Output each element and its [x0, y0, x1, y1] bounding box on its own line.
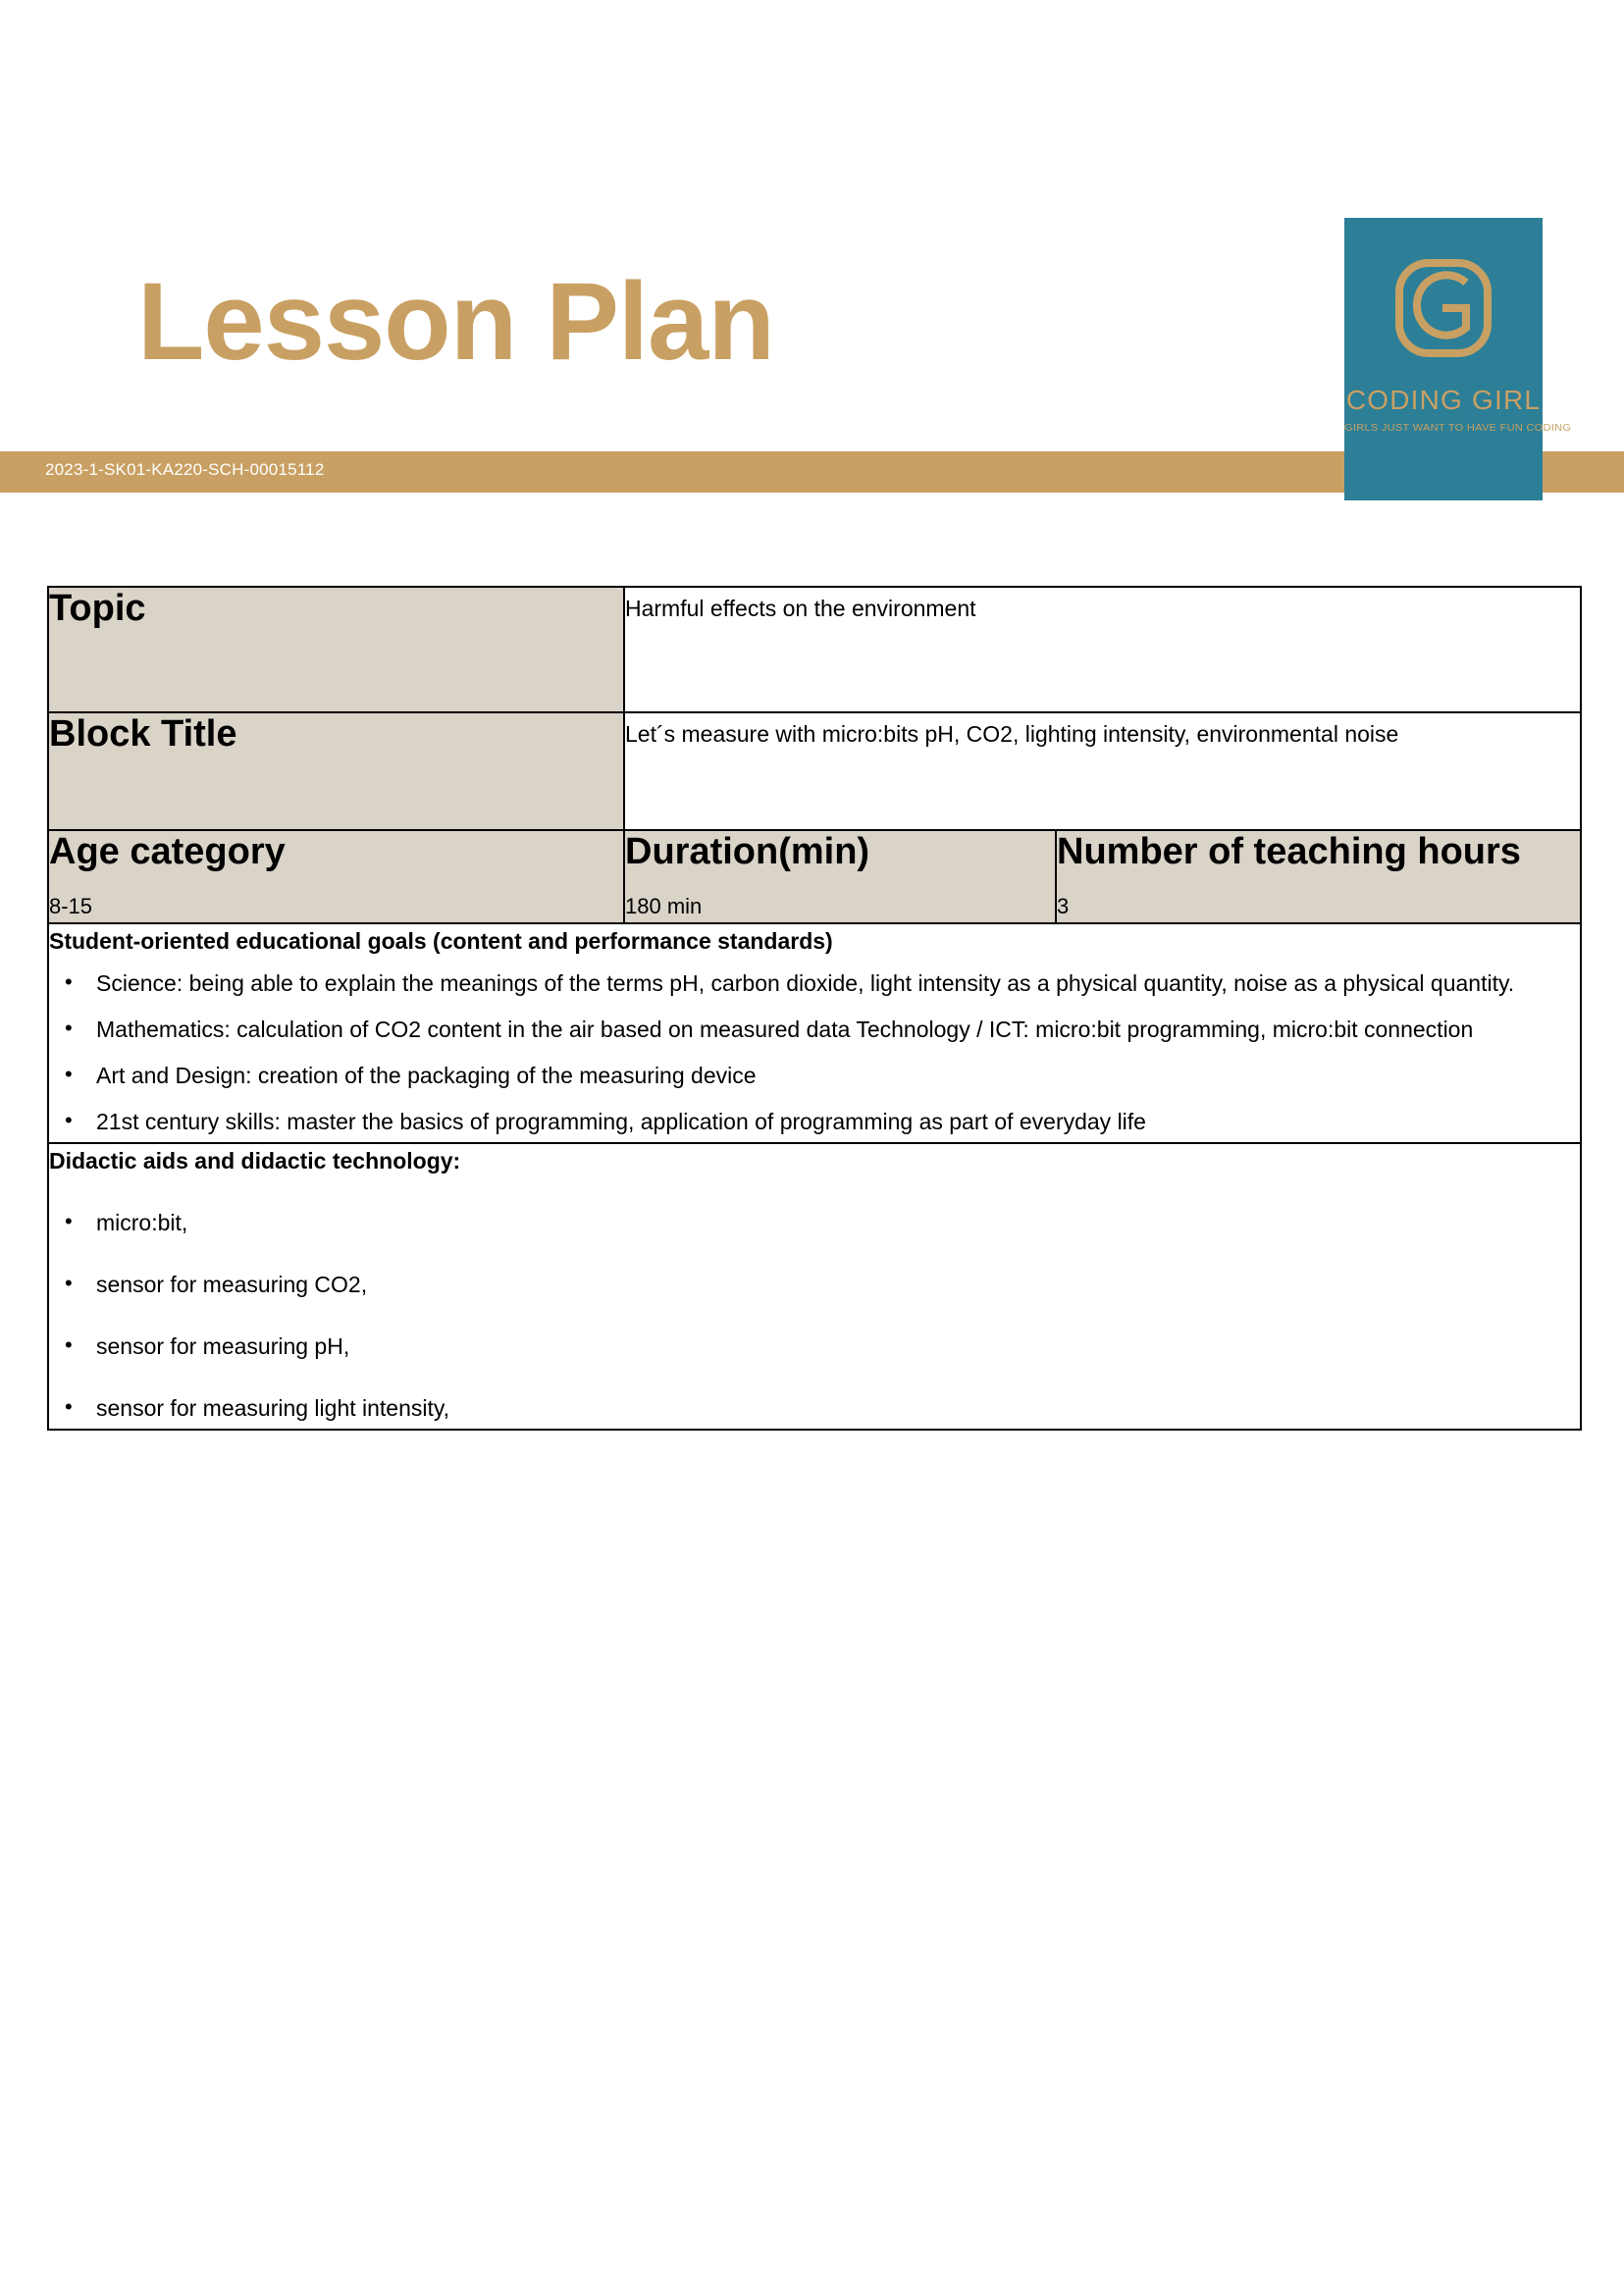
- block-title-label: Block Title: [49, 713, 623, 757]
- lesson-plan-table: Topic Harmful effects on the environment…: [47, 586, 1582, 1431]
- duration-label: Duration(min): [625, 831, 1055, 874]
- table-row-block-title: Block Title Let´s measure with micro:bit…: [48, 712, 1581, 830]
- goals-list: Science: being able to explain the meani…: [49, 964, 1580, 1142]
- teaching-hours-label: Number of teaching hours: [1057, 831, 1580, 874]
- block-title-value: Let´s measure with micro:bits pH, CO2, l…: [625, 713, 1580, 756]
- didactic-cell: Didactic aids and didactic technology: m…: [48, 1143, 1581, 1430]
- topic-value-cell: Harmful effects on the environment: [624, 587, 1581, 712]
- list-item: sensor for measuring light intensity,: [49, 1388, 1580, 1429]
- list-item: sensor for measuring pH,: [49, 1327, 1580, 1367]
- cg-monogram-icon: [1382, 243, 1505, 367]
- table-row-didactic: Didactic aids and didactic technology: m…: [48, 1143, 1581, 1430]
- list-item: sensor for measuring CO2,: [49, 1265, 1580, 1305]
- block-title-value-cell: Let´s measure with micro:bits pH, CO2, l…: [624, 712, 1581, 830]
- age-category-value: 8-15: [49, 890, 623, 922]
- list-item: Art and Design: creation of the packagin…: [49, 1056, 1580, 1096]
- list-item: Science: being able to explain the meani…: [49, 964, 1580, 1004]
- block-title-label-cell: Block Title: [48, 712, 624, 830]
- duration-value: 180 min: [625, 890, 1055, 922]
- age-category-cell: Age category 8-15: [48, 830, 624, 923]
- topic-label-cell: Topic: [48, 587, 624, 712]
- teaching-hours-value: 3: [1057, 890, 1580, 922]
- goals-cell: Student-oriented educational goals (cont…: [48, 923, 1581, 1143]
- didactic-title: Didactic aids and didactic technology:: [49, 1144, 1580, 1178]
- goals-title: Student-oriented educational goals (cont…: [49, 924, 1580, 959]
- project-code: 2023-1-SK01-KA220-SCH-00015112: [45, 460, 324, 480]
- table-row-topic: Topic Harmful effects on the environment: [48, 587, 1581, 712]
- list-item: Mathematics: calculation of CO2 content …: [49, 1010, 1580, 1050]
- table-row-meta: Age category 8-15 Duration(min) 180 min …: [48, 830, 1581, 923]
- duration-cell: Duration(min) 180 min: [624, 830, 1056, 923]
- coding-girl-logo: CODING GIRL GIRLS JUST WANT TO HAVE FUN …: [1344, 218, 1543, 500]
- table-row-goals: Student-oriented educational goals (cont…: [48, 923, 1581, 1143]
- age-category-label: Age category: [49, 831, 623, 874]
- list-item: 21st century skills: master the basics o…: [49, 1102, 1580, 1142]
- topic-label: Topic: [49, 588, 623, 631]
- page-title: Lesson Plan: [137, 267, 774, 377]
- logo-name: CODING GIRL: [1344, 385, 1543, 416]
- didactic-list: micro:bit, sensor for measuring CO2, sen…: [49, 1203, 1580, 1429]
- logo-tagline: GIRLS JUST WANT TO HAVE FUN CODING: [1344, 422, 1543, 433]
- lesson-plan-page: Lesson Plan 2023-1-SK01-KA220-SCH-000151…: [0, 0, 1624, 2296]
- teaching-hours-cell: Number of teaching hours 3: [1056, 830, 1581, 923]
- list-item: micro:bit,: [49, 1203, 1580, 1243]
- topic-value: Harmful effects on the environment: [625, 588, 1580, 630]
